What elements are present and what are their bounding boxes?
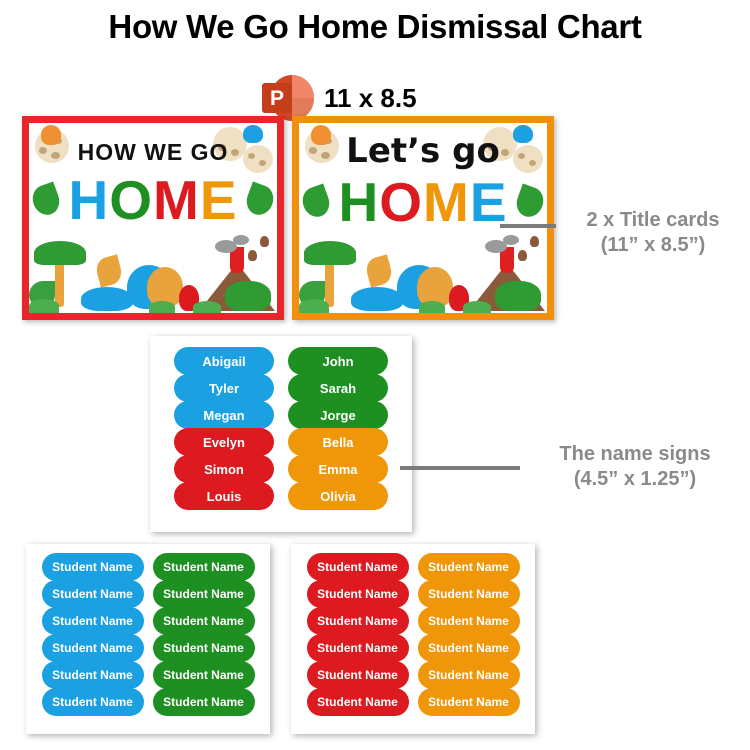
grass-icon (299, 299, 329, 313)
grass-icon (463, 301, 491, 313)
blank-labels-orange-column: Student Name Student Name Student Name S… (418, 553, 520, 715)
blank-labels-red-column: Student Name Student Name Student Name S… (307, 553, 409, 715)
blank-label[interactable]: Student Name (307, 553, 409, 581)
blank-label[interactable]: Student Name (418, 607, 520, 635)
name-sign[interactable]: Tyler (174, 374, 274, 402)
brontosaurus-icon (495, 281, 541, 311)
blank-label[interactable]: Student Name (153, 607, 255, 635)
smoke-icon (503, 235, 519, 245)
title-card-heading: Let’s go (299, 131, 547, 171)
brontosaurus-icon (225, 281, 271, 311)
name-signs-left-column: Abigail Tyler Megan Evelyn Simon Louis (174, 347, 274, 509)
home-letter-o: O (379, 175, 423, 230)
blank-label[interactable]: Student Name (42, 553, 144, 581)
blank-label[interactable]: Student Name (153, 661, 255, 689)
annotation-name-signs-line1: The name signs (530, 442, 740, 467)
blank-label[interactable]: Student Name (42, 688, 144, 716)
title-card-how-we-go-home[interactable]: HOW WE GO HOME (22, 116, 284, 320)
autumn-branch-icon (364, 254, 394, 287)
blank-label[interactable]: Student Name (42, 580, 144, 608)
stegosaurus-icon (351, 287, 403, 311)
blank-label[interactable]: Student Name (418, 688, 520, 716)
blank-label[interactable]: Student Name (42, 634, 144, 662)
name-sign[interactable]: Simon (174, 455, 274, 483)
blank-label[interactable]: Student Name (153, 553, 255, 581)
name-sign[interactable]: John (288, 347, 388, 375)
annotation-title-cards-line1: 2 x Title cards (560, 208, 746, 233)
grass-icon (149, 301, 175, 313)
home-letter-h: H (338, 175, 379, 230)
name-sign[interactable]: Sarah (288, 374, 388, 402)
title-card-word: HOME (29, 173, 277, 228)
format-size-label: 11 x 8.5 (324, 83, 417, 114)
name-sign[interactable]: Evelyn (174, 428, 274, 456)
home-letter-e: E (200, 173, 238, 228)
blank-label[interactable]: Student Name (307, 661, 409, 689)
grass-icon (29, 299, 59, 313)
annotation-name-signs-line2: (4.5” x 1.25”) (530, 467, 740, 492)
name-sign[interactable]: Megan (174, 401, 274, 429)
name-sign[interactable]: Jorge (288, 401, 388, 429)
autumn-branch-icon (94, 254, 124, 287)
name-sign[interactable]: Emma (288, 455, 388, 483)
footprint-icon (518, 250, 527, 261)
blank-label-sheet-red-orange[interactable]: Student Name Student Name Student Name S… (291, 544, 535, 734)
palm-tree-icon (55, 261, 64, 307)
footprint-icon (530, 236, 539, 247)
page-title: How We Go Home Dismissal Chart (0, 8, 750, 46)
blank-label-sheet-blue-green[interactable]: Student Name Student Name Student Name S… (26, 544, 270, 734)
leader-line-name-signs (400, 466, 520, 470)
blank-label[interactable]: Student Name (307, 634, 409, 662)
grass-icon (193, 301, 221, 313)
blank-label[interactable]: Student Name (307, 688, 409, 716)
format-badge: P 11 x 8.5 (262, 74, 417, 122)
smoke-icon (233, 235, 249, 245)
name-signs-right-column: John Sarah Jorge Bella Emma Olivia (288, 347, 388, 509)
home-letter-m: M (423, 175, 470, 230)
blank-label[interactable]: Student Name (42, 661, 144, 689)
palm-tree-icon (34, 241, 86, 265)
blank-label[interactable]: Student Name (418, 634, 520, 662)
blank-labels-green-column: Student Name Student Name Student Name S… (153, 553, 255, 715)
home-letter-h: H (68, 173, 109, 228)
title-card-lets-go-home[interactable]: Let’s go HOME (292, 116, 554, 320)
home-letter-m: M (153, 173, 200, 228)
blank-label[interactable]: Student Name (153, 688, 255, 716)
blank-label[interactable]: Student Name (418, 553, 520, 581)
annotation-title-cards-line2: (11” x 8.5”) (560, 233, 746, 258)
blank-label[interactable]: Student Name (42, 607, 144, 635)
title-card-heading: HOW WE GO (29, 139, 277, 166)
palm-tree-icon (325, 261, 334, 307)
home-letter-e: E (470, 175, 508, 230)
poster-canvas: How We Go Home Dismissal Chart P 11 x 8.… (0, 0, 750, 750)
blank-label[interactable]: Student Name (153, 580, 255, 608)
blank-label[interactable]: Student Name (307, 607, 409, 635)
name-sign[interactable]: Louis (174, 482, 274, 510)
powerpoint-icon: P (262, 74, 310, 122)
annotation-name-signs: The name signs (4.5” x 1.25”) (530, 442, 740, 492)
powerpoint-icon-letter: P (262, 83, 292, 113)
name-sign[interactable]: Olivia (288, 482, 388, 510)
footprint-icon (248, 250, 257, 261)
grass-icon (419, 301, 445, 313)
annotation-title-cards: 2 x Title cards (11” x 8.5”) (560, 208, 746, 258)
name-sign[interactable]: Abigail (174, 347, 274, 375)
name-signs-panel[interactable]: Abigail Tyler Megan Evelyn Simon Louis J… (150, 336, 412, 532)
blank-label[interactable]: Student Name (418, 580, 520, 608)
title-card-word: HOME (299, 175, 547, 230)
stegosaurus-icon (81, 287, 133, 311)
blank-label[interactable]: Student Name (418, 661, 520, 689)
name-sign[interactable]: Bella (288, 428, 388, 456)
blank-labels-blue-column: Student Name Student Name Student Name S… (42, 553, 144, 715)
home-letter-o: O (109, 173, 153, 228)
footprint-icon (260, 236, 269, 247)
palm-tree-icon (304, 241, 356, 265)
blank-label[interactable]: Student Name (153, 634, 255, 662)
blank-label[interactable]: Student Name (307, 580, 409, 608)
